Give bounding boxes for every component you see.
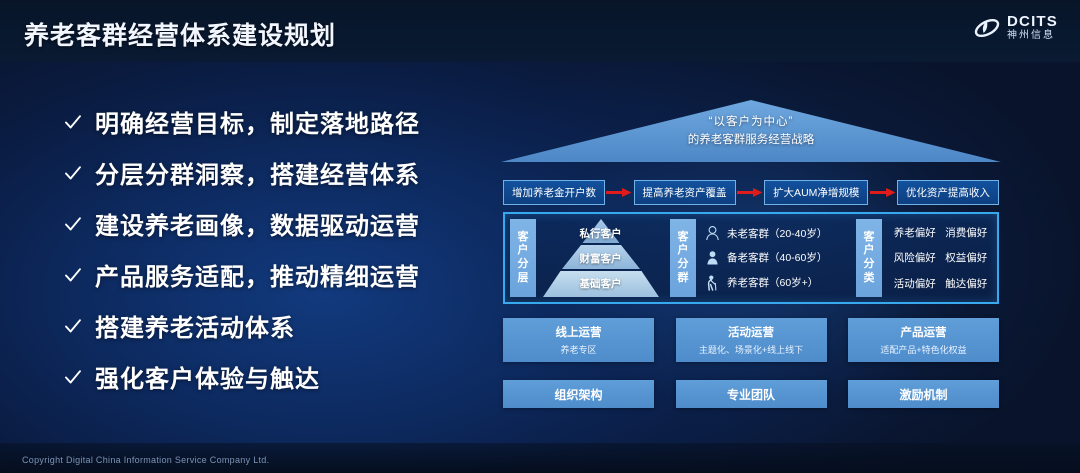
preference-tag-grid: 养老偏好 消费偏好 风险偏好 权益偏好 活动偏好 触达偏好 [882, 214, 997, 302]
goal-box[interactable]: 扩大AUM净增规模 [764, 180, 868, 205]
logo-text-cn: 神州信息 [1007, 31, 1058, 41]
group-row-label: 养老客群（60岁+） [727, 275, 818, 290]
customer-tier-section: 客 户 分 层 [505, 214, 665, 302]
list-item: 搭建养老活动体系 [64, 308, 420, 343]
list-item-label: 建设养老画像，数据驱动运营 [95, 206, 420, 241]
tier-pyramid: 私行客户 财富客户 基础客户 [542, 217, 660, 299]
operations-card-title: 线上运营 [556, 324, 602, 340]
tier-level-label: 财富客户 [542, 251, 660, 266]
goal-box[interactable]: 提高养老资产覆盖 [634, 180, 736, 205]
preference-tag: 权益偏好 [945, 250, 987, 265]
operations-row: 线上运营 养老专区 活动运营 主题化、场景化+线上线下 产品运营 适配产品+特色… [503, 318, 999, 362]
check-icon [64, 164, 82, 182]
customer-classify-label: 客 户 分 类 [856, 219, 882, 297]
list-item: 建设养老画像，数据驱动运营 [64, 206, 420, 241]
goal-box[interactable]: 优化资产提高收入 [897, 180, 999, 205]
roof-text: “以客户为中心” 的养老客群服务经营战略 [495, 114, 1007, 150]
logo-text-en: DCITS [1007, 14, 1058, 29]
elderly-person-icon [705, 275, 720, 291]
slide-canvas: 养老客群经营体系建设规划 DCITS 神州信息 明确经营目标，制定落地路径 分层… [0, 0, 1080, 473]
check-icon [64, 215, 82, 233]
roof-line-2: 的养老客群服务经营战略 [495, 132, 1007, 150]
right-arrow-icon [870, 187, 896, 198]
operations-card-title: 产品运营 [901, 324, 947, 340]
list-item-label: 明确经营目标，制定落地路径 [95, 104, 420, 139]
customer-group-list: 未老客群（20-40岁） 备老客群（40-60岁） [696, 214, 851, 302]
customer-classify-section: 客 户 分 类 养老偏好 消费偏好 风险偏好 权益偏好 活动偏好 触达偏好 [851, 214, 997, 302]
right-arrow-icon [606, 187, 632, 198]
adult-person-icon [705, 250, 720, 266]
group-row-label: 备老客群（40-60岁） [727, 250, 827, 265]
brand-logo: DCITS 神州信息 [974, 14, 1058, 41]
young-person-icon [705, 225, 720, 241]
preference-tag: 养老偏好 [894, 225, 936, 240]
preference-tag: 触达偏好 [945, 276, 987, 291]
list-item-label: 搭建养老活动体系 [95, 308, 295, 343]
operations-card[interactable]: 产品运营 适配产品+特色化权益 [848, 318, 999, 362]
tier-label-c3: 分 [518, 258, 529, 272]
operations-card-title: 活动运营 [728, 324, 774, 340]
foundation-bar[interactable]: 专业团队 [676, 380, 827, 408]
group-label-c1: 客 [678, 231, 689, 245]
check-icon [64, 113, 82, 131]
list-item: 产品服务适配，推动精细运营 [64, 257, 420, 292]
classify-label-c1: 客 [864, 231, 875, 245]
preference-tag: 消费偏好 [945, 225, 987, 240]
check-icon [64, 368, 82, 386]
tier-label-c1: 客 [518, 231, 529, 245]
roof-line-1: “以客户为中心” [495, 114, 1007, 132]
group-row-label: 未老客群（20-40岁） [727, 226, 827, 241]
classify-label-c4: 类 [864, 272, 875, 286]
list-item: 未老客群（20-40岁） [705, 225, 847, 241]
customer-segmentation-panel: 客 户 分 层 [503, 212, 999, 304]
list-item: 强化客户体验与触达 [64, 359, 420, 394]
operations-card-subtitle: 适配产品+特色化权益 [880, 343, 966, 356]
copyright-text: Copyright Digital China Information Serv… [22, 455, 269, 465]
tier-label-c4: 层 [518, 272, 529, 286]
strategy-roof: “以客户为中心” 的养老客群服务经营战略 [495, 96, 1007, 168]
tier-label-c2: 户 [518, 244, 529, 258]
dcits-swoosh-icon [974, 15, 1000, 41]
group-label-c3: 分 [678, 258, 689, 272]
check-icon [64, 266, 82, 284]
preference-tag: 风险偏好 [894, 250, 936, 265]
right-arrow-icon [737, 187, 763, 198]
customer-tier-label: 客 户 分 层 [510, 219, 536, 297]
goal-box[interactable]: 增加养老金开户数 [503, 180, 605, 205]
logo-wordmark: DCITS 神州信息 [1007, 14, 1058, 41]
customer-group-label: 客 户 分 群 [670, 219, 696, 297]
classify-label-c2: 户 [864, 244, 875, 258]
tier-level-label: 私行客户 [542, 226, 660, 241]
foundation-bar[interactable]: 组织架构 [503, 380, 654, 408]
list-item-label: 强化客户体验与触达 [95, 359, 320, 394]
list-item: 明确经营目标，制定落地路径 [64, 104, 420, 139]
tier-level-label: 基础客户 [542, 276, 660, 291]
operations-card[interactable]: 活动运营 主题化、场景化+线上线下 [676, 318, 827, 362]
foundation-row: 组织架构 专业团队 激励机制 [503, 380, 999, 408]
operations-card[interactable]: 线上运营 养老专区 [503, 318, 654, 362]
operations-card-subtitle: 主题化、场景化+线上线下 [699, 343, 803, 356]
goal-chain: 增加养老金开户数 提高养老资产覆盖 扩大AUM净增规模 优化资产提高收入 [503, 180, 999, 205]
group-label-c4: 群 [678, 272, 689, 286]
check-icon [64, 317, 82, 335]
strategy-diagram: “以客户为中心” 的养老客群服务经营战略 增加养老金开户数 提高养老资产覆盖 扩… [495, 96, 1007, 426]
list-item: 分层分群洞察，搭建经营体系 [64, 155, 420, 190]
bullet-list: 明确经营目标，制定落地路径 分层分群洞察，搭建经营体系 建设养老画像，数据驱动运… [64, 104, 420, 394]
list-item: 备老客群（40-60岁） [705, 250, 847, 266]
foundation-bar[interactable]: 激励机制 [848, 380, 999, 408]
preference-tag: 活动偏好 [894, 276, 936, 291]
classify-label-c3: 分 [864, 258, 875, 272]
tier-pyramid-wrap: 私行客户 财富客户 基础客户 [536, 214, 665, 302]
list-item-label: 产品服务适配，推动精细运营 [95, 257, 420, 292]
customer-group-section: 客 户 分 群 未老客群（20-40岁） [665, 214, 851, 302]
list-item: 养老客群（60岁+） [705, 275, 847, 291]
operations-card-subtitle: 养老专区 [560, 343, 596, 356]
list-item-label: 分层分群洞察，搭建经营体系 [95, 155, 420, 190]
group-label-c2: 户 [678, 244, 689, 258]
page-title: 养老客群经营体系建设规划 [24, 16, 336, 52]
